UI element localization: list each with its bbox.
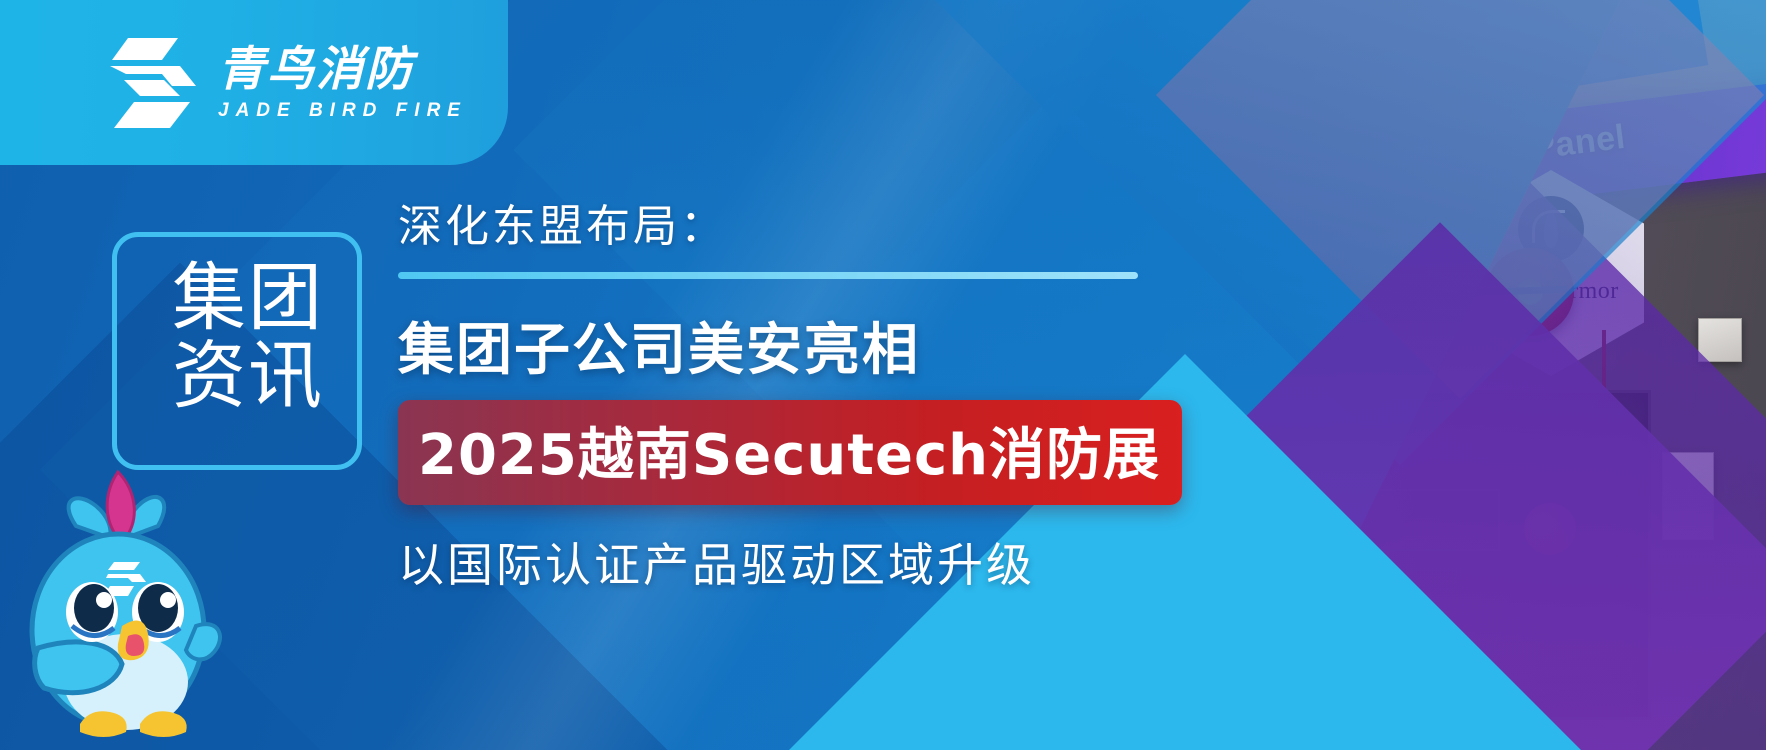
category-badge-line-2: 资讯: [153, 337, 343, 415]
headline-subtitle: 以国际认证产品驱动区域升级: [398, 529, 1158, 595]
headline-block: 深化东盟布局： 集团子公司美安亮相 2025越南Secutech消防展 以国际认…: [398, 190, 1158, 595]
header-ribbon: 青鸟消防 JADE BIRD FIRE: [0, 0, 508, 165]
brand-name-cn: 青鸟消防: [218, 46, 467, 93]
headline-divider: [398, 272, 1138, 279]
jade-bird-arrow-logo-icon: [104, 34, 200, 132]
jade-bird-mascot-icon: [18, 430, 228, 750]
headline-tag-text: 2025越南Secutech消防展: [418, 423, 1160, 488]
brand-logo-text: 青鸟消防 JADE BIRD FIRE: [218, 46, 467, 120]
brand-logo[interactable]: 青鸟消防 JADE BIRD FIRE: [104, 34, 467, 132]
category-badge-line-1: 集团: [153, 259, 343, 337]
headline-eyebrow: 深化东盟布局：: [398, 190, 1158, 254]
category-badge-text: 集团 资讯: [153, 259, 343, 416]
promo-banner: Fire Alarm Control Panel Maple Armor: [0, 0, 1766, 750]
headline-title: 集团子公司美安亮相: [398, 305, 1158, 386]
brand-name-en: JADE BIRD FIRE: [218, 101, 467, 120]
headline-tag-chip: 2025越南Secutech消防展: [398, 400, 1182, 505]
